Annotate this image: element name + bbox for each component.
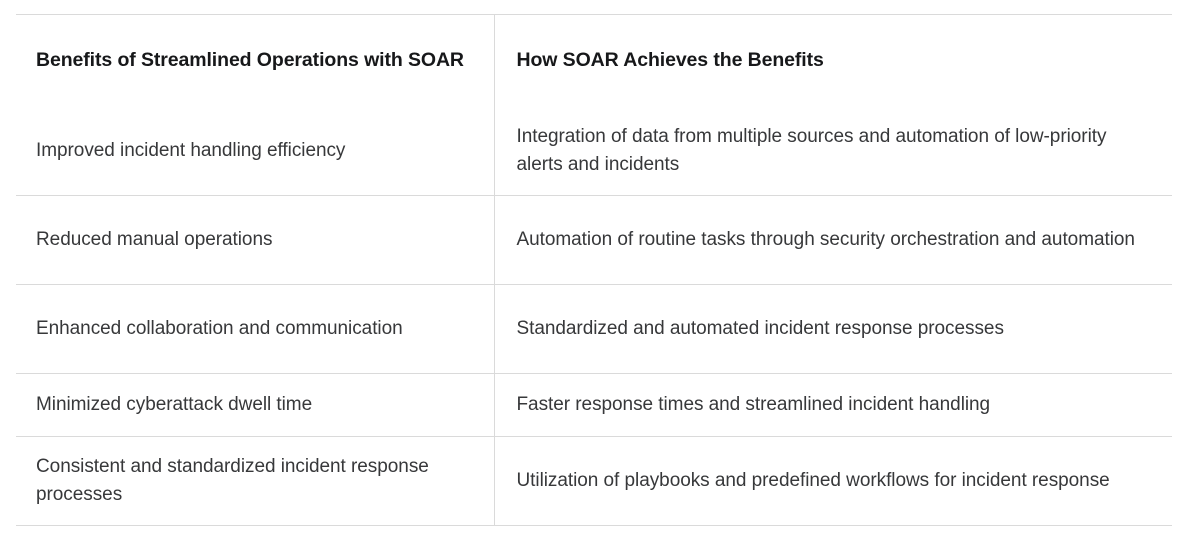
benefits-table: Benefits of Streamlined Operations with … <box>16 14 1172 526</box>
table-row: Consistent and standardized incident res… <box>16 437 1172 526</box>
benefit-text: Consistent and standardized incident res… <box>36 453 470 508</box>
how-cell: Automation of routine tasks through secu… <box>494 196 1172 285</box>
how-text: Faster response times and streamlined in… <box>517 391 1153 419</box>
how-text: Utilization of playbooks and predefined … <box>517 467 1153 495</box>
table-row: Minimized cyberattack dwell time Faster … <box>16 374 1172 437</box>
benefit-text: Enhanced collaboration and communication <box>36 315 470 343</box>
benefit-text: Reduced manual operations <box>36 226 470 254</box>
table-body: Improved incident handling efficiency In… <box>16 107 1172 526</box>
how-text: Integration of data from multiple source… <box>517 123 1153 178</box>
table-row: Improved incident handling efficiency In… <box>16 107 1172 196</box>
how-cell: Standardized and automated incident resp… <box>494 285 1172 374</box>
benefit-text: Minimized cyberattack dwell time <box>36 391 470 419</box>
column-header-how: How SOAR Achieves the Benefits <box>494 15 1172 108</box>
benefit-cell: Enhanced collaboration and communication <box>16 285 494 374</box>
how-cell: Utilization of playbooks and predefined … <box>494 437 1172 526</box>
how-cell: Faster response times and streamlined in… <box>494 374 1172 437</box>
table-row: Reduced manual operations Automation of … <box>16 196 1172 285</box>
benefit-cell: Consistent and standardized incident res… <box>16 437 494 526</box>
benefits-table-container: Benefits of Streamlined Operations with … <box>16 14 1172 526</box>
how-text: Standardized and automated incident resp… <box>517 315 1153 343</box>
table-header: Benefits of Streamlined Operations with … <box>16 15 1172 108</box>
how-cell: Integration of data from multiple source… <box>494 107 1172 196</box>
column-header-benefits: Benefits of Streamlined Operations with … <box>16 15 494 108</box>
column-header-benefits-text: Benefits of Streamlined Operations with … <box>36 47 470 75</box>
benefit-cell: Minimized cyberattack dwell time <box>16 374 494 437</box>
benefit-text: Improved incident handling efficiency <box>36 137 470 165</box>
column-header-how-text: How SOAR Achieves the Benefits <box>517 47 1153 75</box>
benefit-cell: Improved incident handling efficiency <box>16 107 494 196</box>
table-row: Enhanced collaboration and communication… <box>16 285 1172 374</box>
how-text: Automation of routine tasks through secu… <box>517 226 1153 254</box>
table-header-row: Benefits of Streamlined Operations with … <box>16 15 1172 108</box>
benefit-cell: Reduced manual operations <box>16 196 494 285</box>
